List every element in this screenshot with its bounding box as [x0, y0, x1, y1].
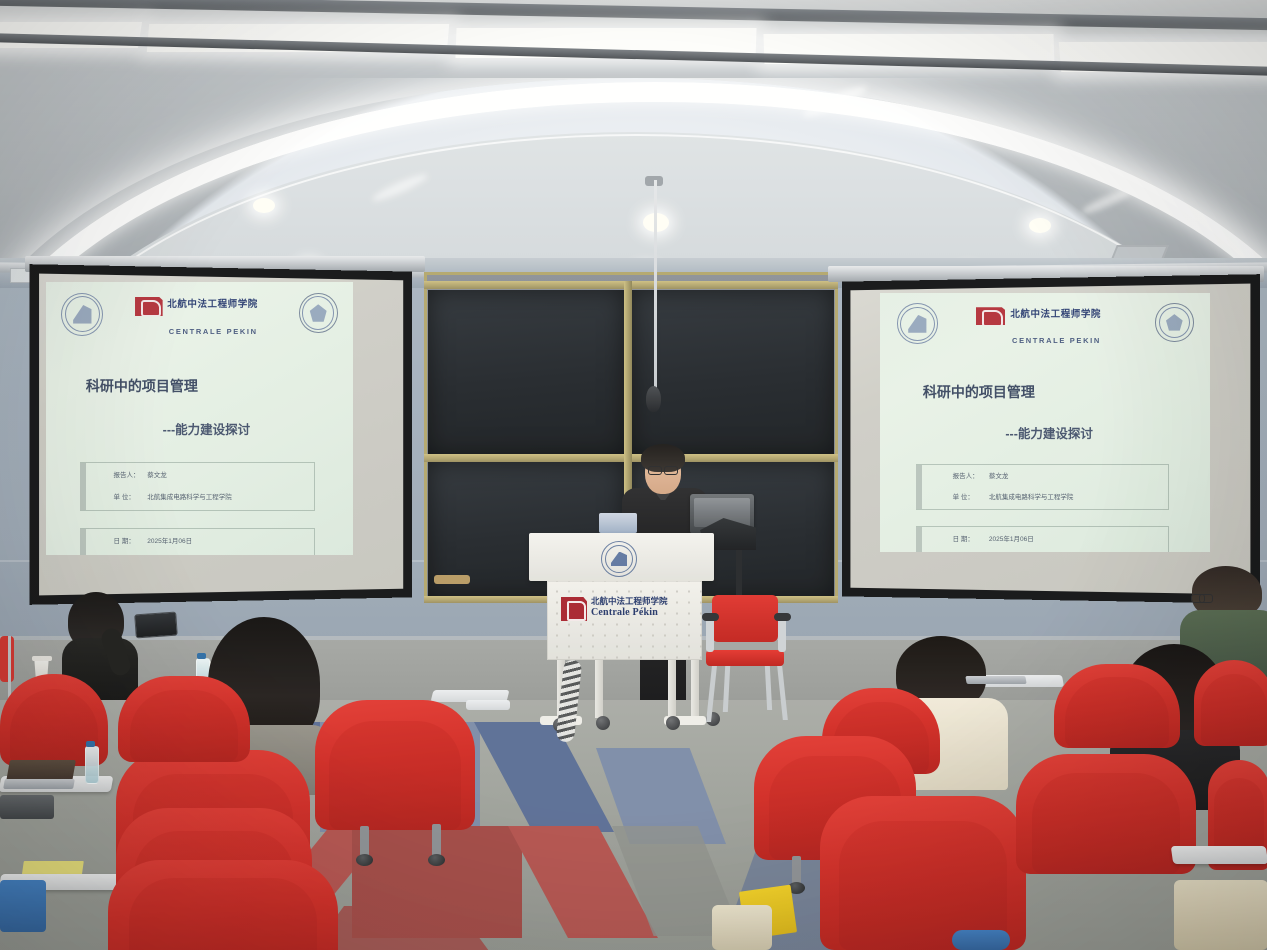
- beige-bag[interactable]: [1174, 880, 1267, 950]
- slide-speaker-label: 报告人：: [114, 469, 140, 479]
- folding-table[interactable]: [466, 700, 510, 710]
- ceiling-downlight: [253, 198, 275, 213]
- lectern-logo-latin: Centrale Pékin: [591, 607, 658, 618]
- chair-foot: [428, 854, 445, 866]
- chair-seat-inner: [1065, 677, 1168, 748]
- lecture-hall-photo: 北航中法工程师学院 CENTRALE PEKIN 科研中的项目管理 ---能力建…: [0, 0, 1267, 950]
- partner-seal-icon: [1155, 303, 1193, 341]
- logo-chinese-text: 北航中法工程师学院: [1010, 306, 1101, 320]
- lectern-laptop[interactable]: [599, 513, 637, 533]
- logo-chinese-text: 北航中法工程师学院: [167, 296, 258, 310]
- bottle-cap: [86, 741, 95, 747]
- glasses-icon: [648, 466, 678, 473]
- smartphone[interactable]: [134, 612, 178, 639]
- centrale-pekin-emblem-icon: [976, 307, 1006, 335]
- buaa-seal-icon: [61, 293, 103, 336]
- audience-chair[interactable]: [1016, 754, 1196, 874]
- hanging-microphone-icon: [646, 386, 661, 412]
- logo-english-text: CENTRALE PEKIN: [1012, 336, 1101, 345]
- side-chair[interactable]: [0, 636, 14, 682]
- lectern-caster: [666, 716, 680, 730]
- seal-glyph: [310, 304, 327, 322]
- slide-date-label: 日 期：: [953, 533, 974, 543]
- chalk-tray-item: [434, 575, 470, 584]
- logo-english-text: CENTRALE PEKIN: [169, 327, 258, 336]
- chair-seat-inner: [130, 690, 238, 762]
- folding-chair-armcap: [702, 613, 719, 621]
- carpet-tile: [474, 722, 614, 832]
- date-box-tab: [916, 527, 922, 552]
- audience-chair[interactable]: [108, 860, 338, 950]
- buaa-seal-icon: [601, 541, 637, 577]
- slide-speaker-value: 蔡文龙: [147, 469, 167, 479]
- audience-chair[interactable]: [118, 676, 250, 762]
- slide-affiliation-value: 北航集成电路科学与工程学院: [147, 491, 232, 501]
- ceiling-downlight: [1029, 218, 1051, 233]
- audience-chair[interactable]: [315, 700, 475, 830]
- slide-subtitle: ---能力建设探讨: [1005, 423, 1093, 442]
- folding-chair-seat[interactable]: [706, 650, 784, 666]
- slide-date-value: 2025年1月06日: [147, 535, 192, 545]
- date-box-tab: [80, 529, 86, 555]
- seal-glyph: [908, 315, 926, 333]
- info-box-tab: [916, 465, 922, 509]
- water-bottle[interactable]: [85, 746, 99, 784]
- slide-title: 科研中的项目管理: [86, 376, 198, 396]
- glasses-icon: [1191, 594, 1213, 601]
- lectern-logo-chinese: 北航中法工程师学院: [591, 595, 668, 607]
- audience-chair[interactable]: [820, 796, 1026, 950]
- slide-speaker-value: 蔡文龙: [989, 470, 1009, 480]
- laptop[interactable]: [965, 676, 1026, 684]
- centrale-pekin-emblem-icon: [135, 297, 163, 327]
- blue-object: [952, 930, 1010, 950]
- chair-storage-basket: [0, 795, 54, 819]
- chair-seat-inner: [1201, 674, 1267, 746]
- audience-chair[interactable]: [1054, 664, 1180, 748]
- partner-seal-icon: [299, 293, 338, 333]
- slide-date-label: 日 期：: [114, 535, 135, 545]
- info-box-tab: [80, 463, 86, 509]
- slide-subtitle: ---能力建设探讨: [163, 419, 251, 438]
- seal-glyph: [73, 305, 91, 324]
- chair-tablet-arm[interactable]: [1171, 846, 1267, 864]
- lectern-leg: [691, 660, 699, 718]
- folding-chair-armcap: [774, 613, 791, 621]
- folding-chair-arm: [706, 618, 714, 652]
- chair-seat-inner: [1032, 773, 1180, 874]
- slide-title: 科研中的项目管理: [923, 382, 1035, 402]
- chair-seat-inner: [329, 721, 460, 830]
- lectern-caster: [596, 716, 610, 730]
- slide-left: 北航中法工程师学院 CENTRALE PEKIN 科研中的项目管理 ---能力建…: [46, 282, 353, 555]
- blue-chair-back[interactable]: [0, 880, 46, 932]
- seal-glyph: [1166, 314, 1183, 331]
- lectern-leg: [668, 660, 676, 722]
- chair-foot: [356, 854, 373, 866]
- microphone-cable: [654, 180, 657, 390]
- slide-affiliation-label: 单 位：: [114, 491, 135, 501]
- blackboard-panel[interactable]: [632, 290, 834, 455]
- slide-affiliation-label: 单 位：: [953, 491, 974, 501]
- beige-bag[interactable]: [712, 905, 772, 950]
- lectern-leg: [595, 660, 603, 718]
- folding-chair-back[interactable]: [712, 595, 778, 642]
- cup-lid: [32, 656, 52, 661]
- buaa-seal-icon: [897, 303, 939, 344]
- slide-date-value: 2025年1月06日: [989, 533, 1034, 543]
- slide-speaker-label: 报告人：: [953, 470, 979, 480]
- laptop-base[interactable]: [3, 779, 75, 789]
- blackboard-panel[interactable]: [428, 290, 624, 455]
- cp-mark-glyph: [561, 597, 587, 621]
- lectern-logo: 北航中法工程师学院 Centrale Pékin: [561, 596, 689, 624]
- chair-seat-inner: [129, 878, 318, 950]
- slide-right: 北航中法工程师学院 CENTRALE PEKIN 科研中的项目管理 ---能力建…: [880, 293, 1210, 552]
- cp-mark-glyph: [976, 307, 1006, 325]
- cp-mark-glyph: [135, 297, 163, 316]
- chair-leg: [432, 824, 441, 858]
- slide-affiliation-value: 北航集成电路科学与工程学院: [989, 491, 1074, 501]
- folding-chair-arm: [778, 618, 786, 652]
- audience-chair[interactable]: [1194, 660, 1267, 746]
